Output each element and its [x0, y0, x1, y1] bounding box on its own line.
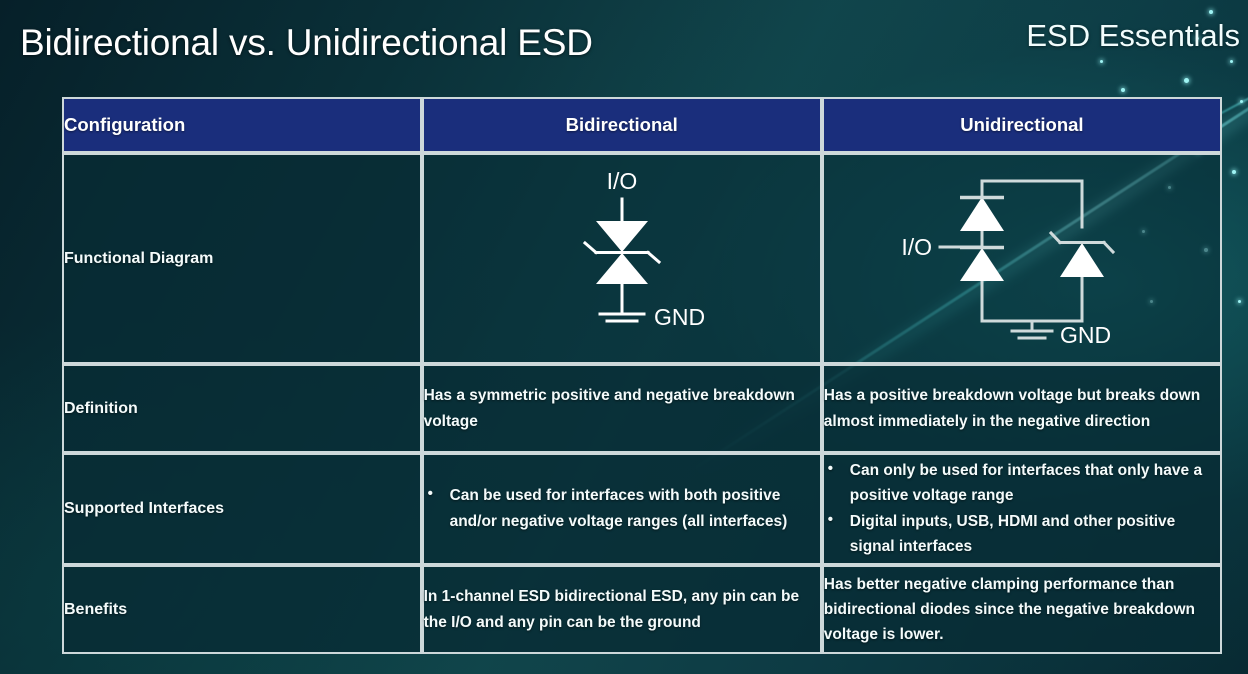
- page-title: Bidirectional vs. Unidirectional ESD: [20, 22, 593, 64]
- benefits-unidirectional-text: Has better negative clamping performance…: [822, 565, 1222, 654]
- list-item: Digital inputs, USB, HDMI and other posi…: [824, 509, 1220, 559]
- row-label-benefits: Benefits: [62, 565, 422, 654]
- gnd-label: GND: [1060, 322, 1111, 348]
- slide-canvas: Bidirectional vs. Unidirectional ESD ESD…: [0, 0, 1248, 674]
- slide-header: Bidirectional vs. Unidirectional ESD ESD…: [0, 0, 1248, 88]
- gnd-label: GND: [654, 304, 705, 330]
- supported-interfaces-unidirectional-list: Can only be used for interfaces that onl…: [822, 453, 1222, 565]
- unidirectional-functional-diagram-cell: I/O GND: [822, 153, 1222, 364]
- table-row: Benefits In 1-channel ESD bidirectional …: [62, 565, 1222, 654]
- bidirectional-functional-diagram-cell: I/O GND: [422, 153, 822, 364]
- series-label: ESD Essentials: [1026, 18, 1240, 54]
- list-item: Can only be used for interfaces that onl…: [824, 458, 1220, 508]
- particle-dot: [1232, 170, 1236, 174]
- comparison-table: Configuration Bidirectional Unidirection…: [62, 97, 1222, 654]
- column-header-unidirectional: Unidirectional: [822, 97, 1222, 153]
- table-row: Definition Has a symmetric positive and …: [62, 364, 1222, 453]
- particle-dot: [1121, 88, 1125, 92]
- bidirectional-esd-diode-diagram: I/O GND: [472, 159, 772, 359]
- definition-unidirectional-text: Has a positive breakdown voltage but bre…: [822, 364, 1222, 453]
- definition-bidirectional-text: Has a symmetric positive and negative br…: [422, 364, 822, 453]
- column-header-configuration: Configuration: [62, 97, 422, 153]
- io-label: I/O: [606, 168, 637, 194]
- table-header-row: Configuration Bidirectional Unidirection…: [62, 97, 1222, 153]
- particle-dot: [1240, 100, 1243, 103]
- unidirectional-esd-diode-diagram: I/O GND: [862, 159, 1182, 359]
- bullet-list: Can be used for interfaces with both pos…: [424, 483, 820, 533]
- supported-interfaces-bidirectional-list: Can be used for interfaces with both pos…: [422, 453, 822, 565]
- io-label: I/O: [901, 234, 932, 260]
- row-label-supported-interfaces: Supported Interfaces: [62, 453, 422, 565]
- particle-dot: [1238, 300, 1241, 303]
- table-row: Supported Interfaces Can be used for int…: [62, 453, 1222, 565]
- row-label-definition: Definition: [62, 364, 422, 453]
- bullet-list: Can only be used for interfaces that onl…: [824, 458, 1220, 559]
- table-row: Functional Diagram: [62, 153, 1222, 364]
- row-label-functional-diagram: Functional Diagram: [62, 153, 422, 364]
- column-header-bidirectional: Bidirectional: [422, 97, 822, 153]
- benefits-bidirectional-text: In 1-channel ESD bidirectional ESD, any …: [422, 565, 822, 654]
- list-item: Can be used for interfaces with both pos…: [424, 483, 820, 533]
